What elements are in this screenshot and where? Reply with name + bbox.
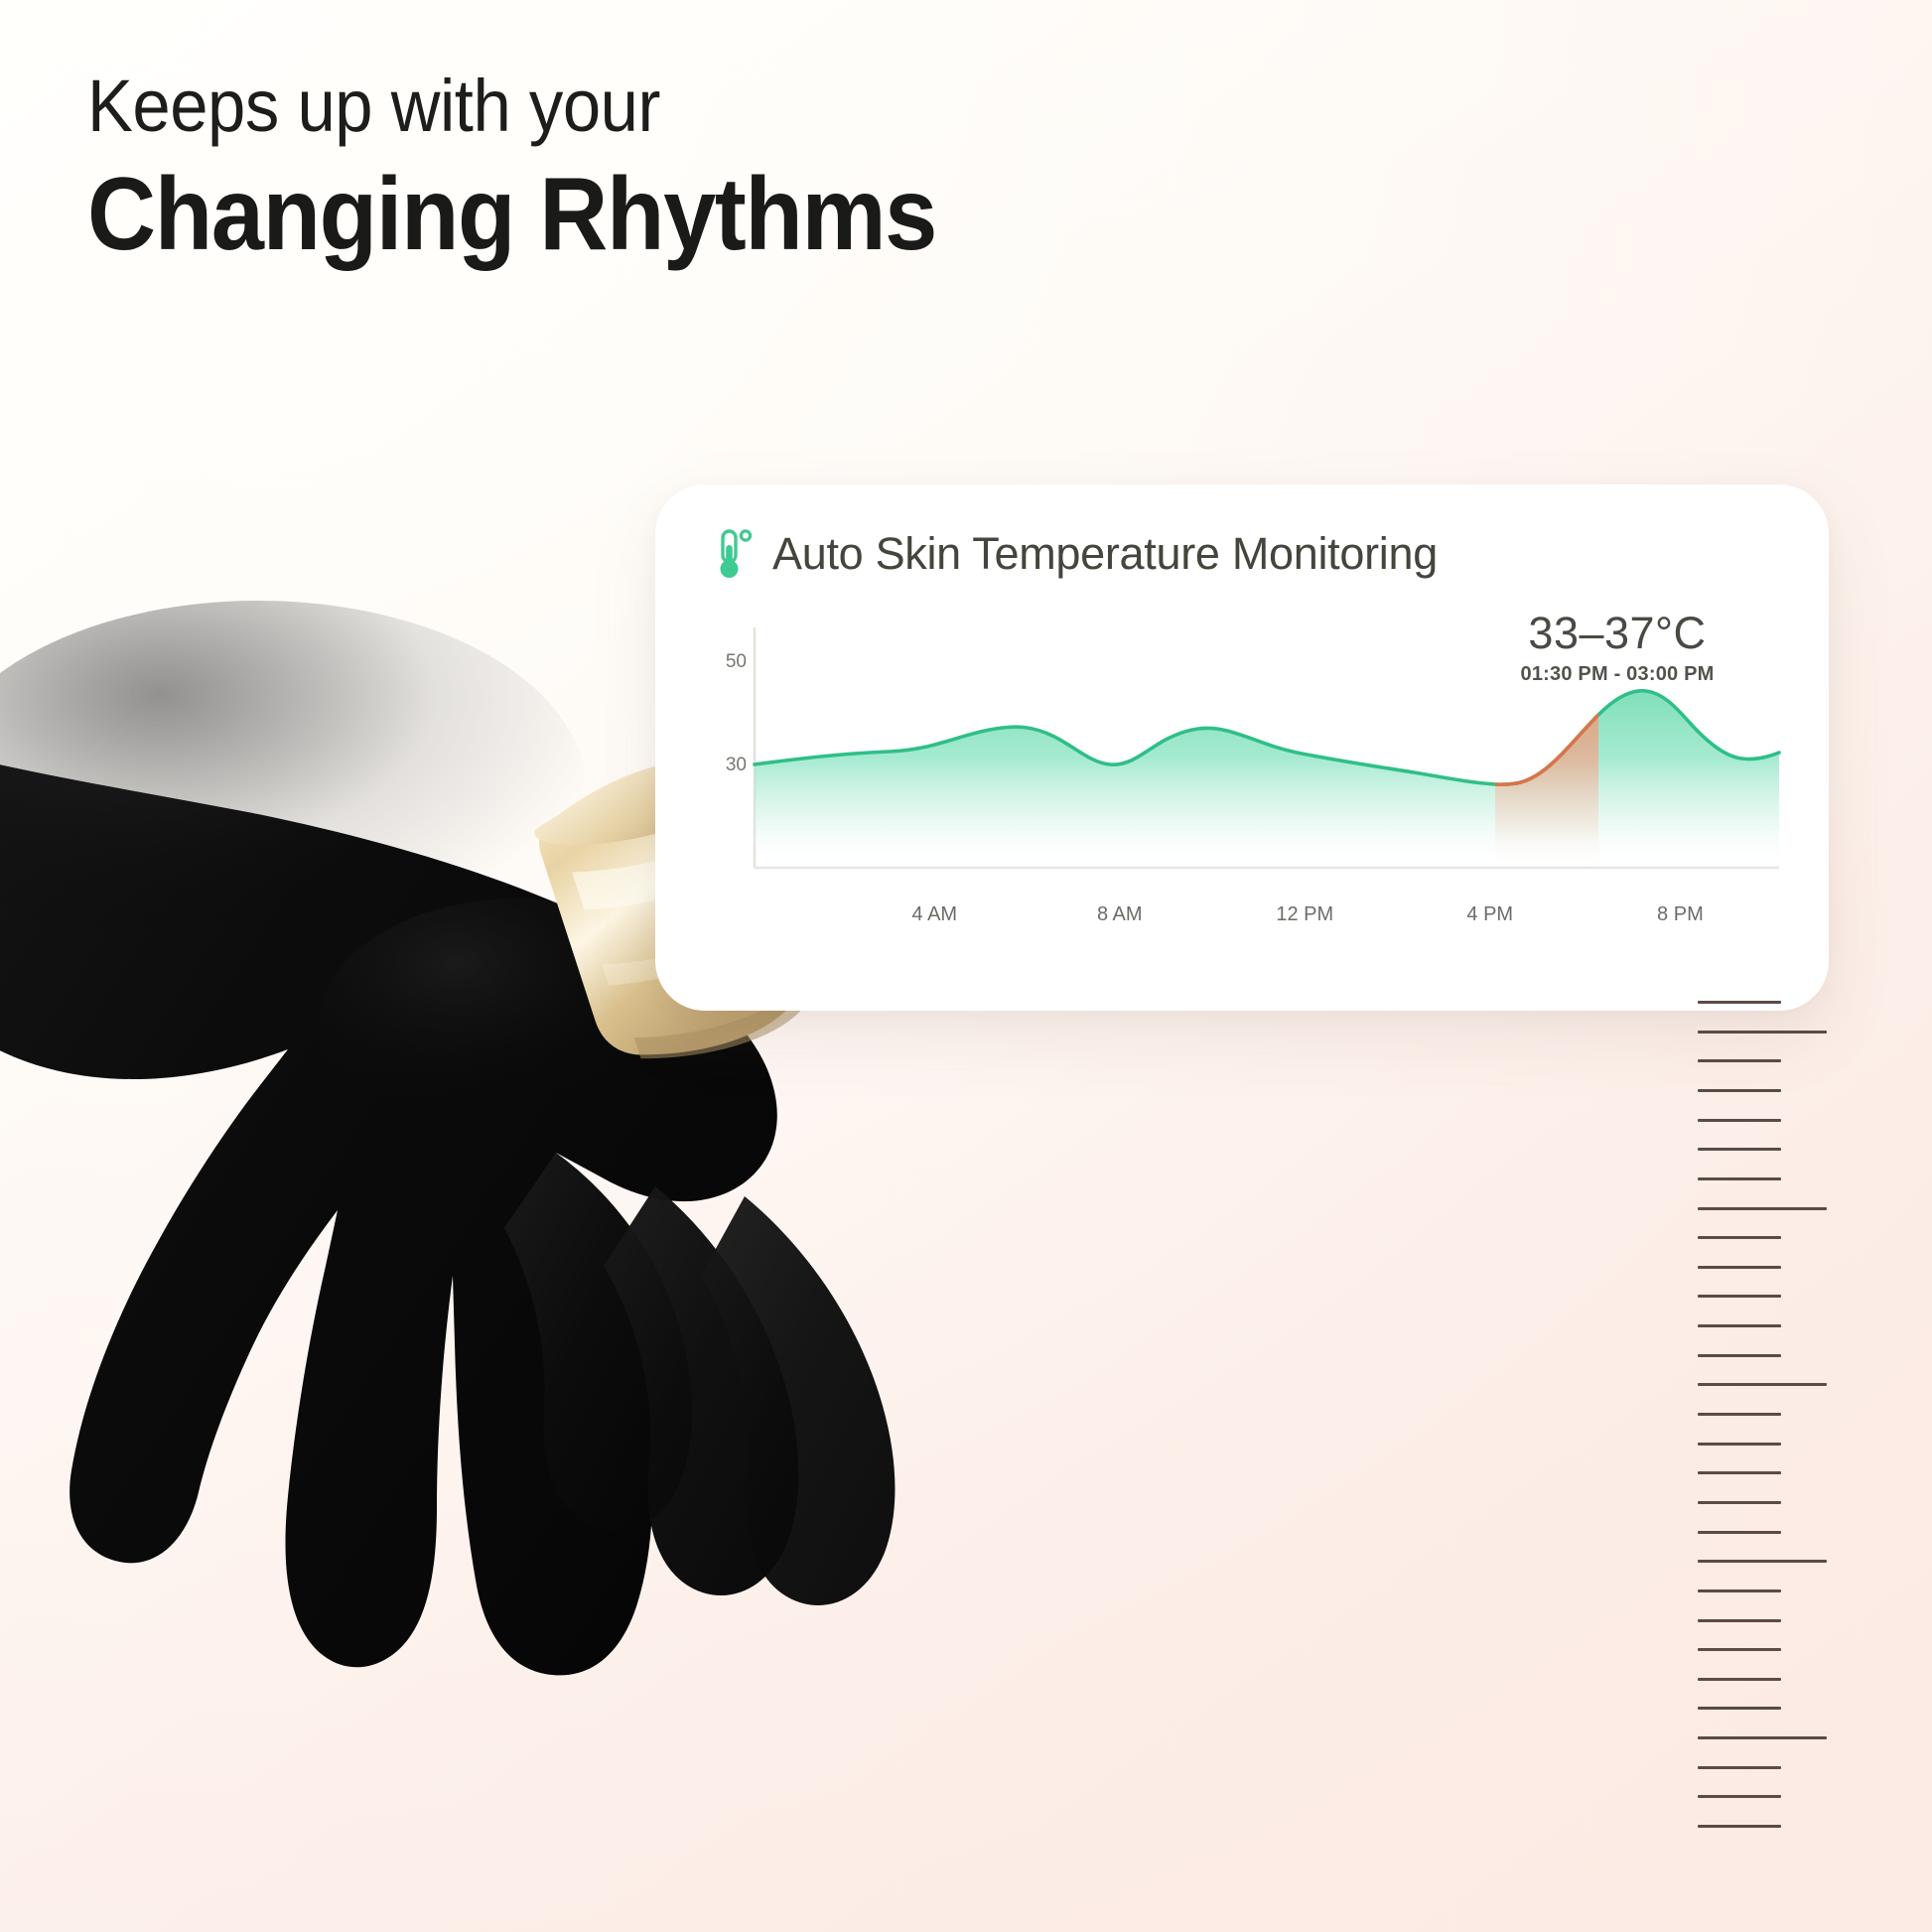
ruler-tick-minor [1698, 1177, 1781, 1180]
ruler-scale [1698, 1001, 1827, 1825]
ruler-tick-minor [1698, 1707, 1781, 1710]
x-axis-tick-1: 8 AM [1097, 903, 1143, 926]
ruler-tick-major [1698, 1560, 1827, 1563]
card-header: Auto Skin Temperature Monitoring [701, 528, 1783, 580]
ruler-tick-minor [1698, 1089, 1781, 1092]
ruler-tick-minor [1698, 1413, 1781, 1416]
highlight-annotation: 33–37°C 01:30 PM - 03:00 PM [1473, 608, 1761, 686]
ruler-tick-minor [1698, 1266, 1781, 1269]
ruler-tick-minor [1698, 1795, 1781, 1798]
ruler-tick-minor [1698, 1531, 1781, 1534]
ruler-tick-minor [1698, 1619, 1781, 1622]
ruler-tick-minor [1698, 1471, 1781, 1474]
x-axis-tick-0: 4 AM [912, 903, 958, 926]
ruler-tick-minor [1698, 1501, 1781, 1504]
thermometer-icon [719, 528, 753, 580]
page-title: Changing Rhythms [87, 159, 1275, 270]
ruler-tick-minor [1698, 1295, 1781, 1298]
ruler-tick-minor [1698, 1324, 1781, 1327]
ruler-tick-major [1698, 1207, 1827, 1210]
skin-temperature-card: Auto Skin Temperature Monitoring 50 30 [655, 484, 1829, 1011]
temperature-chart[interactable]: 50 30 [701, 614, 1783, 941]
x-axis-tick-3: 4 PM [1466, 903, 1513, 926]
temperature-time-range: 01:30 PM - 03:00 PM [1473, 663, 1761, 686]
headline-line-1: Keeps up with your [87, 69, 1288, 143]
ruler-tick-minor [1698, 1589, 1781, 1592]
ruler-tick-minor [1698, 1001, 1781, 1004]
ruler-tick-major [1698, 1736, 1827, 1739]
ruler-tick-major [1698, 1383, 1827, 1386]
ruler-tick-minor [1698, 1119, 1781, 1122]
x-axis-tick-4: 8 PM [1657, 903, 1704, 926]
ruler-tick-minor [1698, 1236, 1781, 1239]
headline-block: Keeps up with your Changing Rhythms [87, 69, 1378, 270]
ruler-tick-minor [1698, 1059, 1781, 1062]
ruler-tick-minor [1698, 1354, 1781, 1357]
ruler-tick-minor [1698, 1766, 1781, 1769]
ruler-tick-minor [1698, 1648, 1781, 1651]
ruler-tick-minor [1698, 1148, 1781, 1151]
x-axis-tick-2: 12 PM [1276, 903, 1333, 926]
ruler-tick-major [1698, 1031, 1827, 1034]
card-title: Auto Skin Temperature Monitoring [772, 528, 1438, 580]
temperature-range-value: 33–37°C [1473, 608, 1761, 659]
x-axis: 4 AM 8 AM 12 PM 4 PM 8 PM [755, 903, 1783, 937]
ruler-tick-minor [1698, 1825, 1781, 1828]
ruler-tick-minor [1698, 1443, 1781, 1446]
ruler-tick-minor [1698, 1678, 1781, 1681]
